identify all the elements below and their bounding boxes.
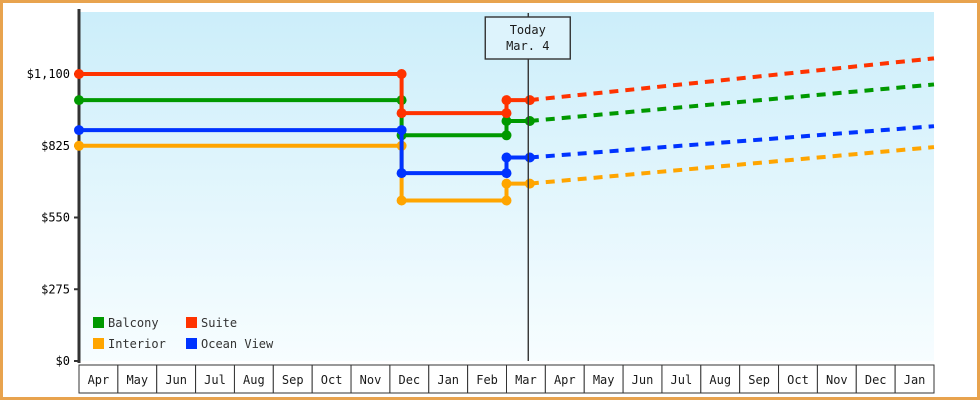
today-label-line1: Today: [510, 23, 546, 37]
x-axis-month-label: Jul: [204, 373, 226, 387]
y-tick-label: $825: [41, 139, 70, 153]
series-point-marker: [397, 69, 407, 79]
y-tick-label: $0: [56, 354, 70, 368]
x-axis-month-label: Oct: [787, 373, 809, 387]
x-axis-month-label: Oct: [321, 373, 343, 387]
x-axis-month-label: Jun: [165, 373, 187, 387]
series-point-marker: [502, 196, 512, 206]
series-point-marker: [397, 196, 407, 206]
x-axis-month-label: Aug: [243, 373, 265, 387]
series-point-marker: [397, 125, 407, 135]
x-axis-month-label: Apr: [554, 373, 576, 387]
price-forecast-chart: $0$275$550$825$1,100 TodayMar. 4 AprMayJ…: [3, 3, 977, 397]
today-label-line2: Mar. 4: [506, 39, 549, 53]
x-axis-month-label: May: [126, 373, 148, 387]
x-axis-month-label: Feb: [476, 373, 498, 387]
y-tick-label: $275: [41, 282, 70, 296]
x-axis-month-label: Nov: [360, 373, 382, 387]
series-point-marker: [74, 69, 84, 79]
x-axis-month-label: Nov: [826, 373, 848, 387]
series-point-marker: [502, 168, 512, 178]
x-axis-month-label: Apr: [88, 373, 110, 387]
chart-frame: $0$275$550$825$1,100 TodayMar. 4 AprMayJ…: [0, 0, 980, 400]
x-axis-month-label: Jan: [904, 373, 926, 387]
legend-label[interactable]: Interior: [108, 337, 166, 351]
legend-label[interactable]: Ocean View: [201, 337, 274, 351]
series-point-marker: [502, 108, 512, 118]
legend-swatch: [93, 317, 104, 328]
x-axis-months: AprMayJunJulAugSepOctNovDecJanFebMarAprM…: [79, 365, 934, 393]
x-axis-month-label: Jan: [437, 373, 459, 387]
x-axis-month-label: Sep: [282, 373, 304, 387]
series-point-marker: [397, 108, 407, 118]
series-point-marker: [397, 168, 407, 178]
series-point-marker: [74, 95, 84, 105]
legend-swatch: [93, 338, 104, 349]
legend-swatch: [186, 338, 197, 349]
x-axis-month-label: Jul: [671, 373, 693, 387]
legend-swatch: [186, 317, 197, 328]
x-axis-month-label: Dec: [398, 373, 420, 387]
y-tick-label: $550: [41, 211, 70, 225]
series-point-marker: [74, 141, 84, 151]
x-axis-month-label: Jun: [632, 373, 654, 387]
x-axis-month-label: Dec: [865, 373, 887, 387]
y-axis-ticks: $0$275$550$825$1,100: [27, 67, 79, 368]
series-point-marker: [502, 179, 512, 189]
series-point-marker: [74, 125, 84, 135]
series-point-marker: [502, 130, 512, 140]
x-axis-month-label: Sep: [748, 373, 770, 387]
legend-label[interactable]: Suite: [201, 316, 237, 330]
x-axis-month-label: May: [593, 373, 615, 387]
y-tick-label: $1,100: [27, 67, 70, 81]
x-axis-month-label: Aug: [709, 373, 731, 387]
series-point-marker: [502, 95, 512, 105]
legend-label[interactable]: Balcony: [108, 316, 159, 330]
series-point-marker: [502, 153, 512, 163]
x-axis-month-label: Mar: [515, 373, 537, 387]
